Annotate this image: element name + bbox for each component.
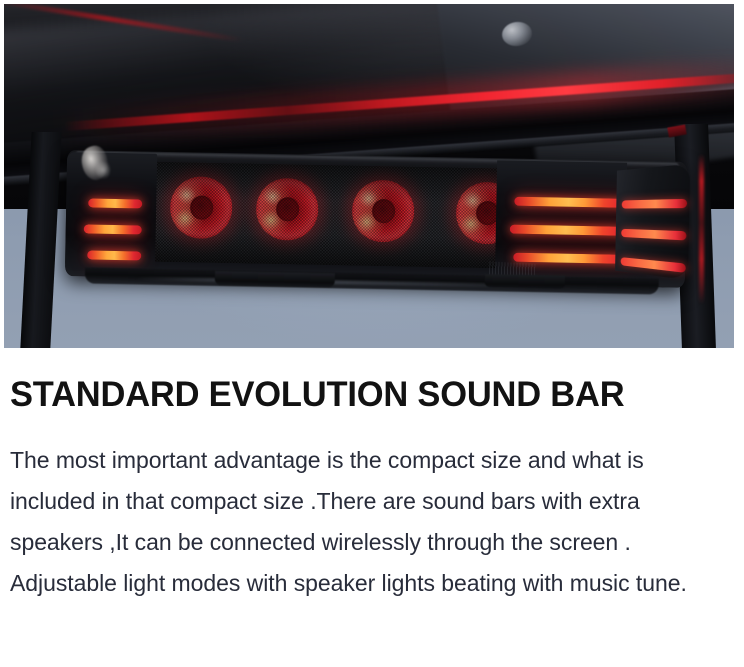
left-cap-led-bar [87,250,141,260]
product-text-block: STANDARD EVOLUTION SOUND BAR The most im… [0,348,744,604]
product-description: The most important advantage is the comp… [10,440,734,604]
right-cap-side-face [615,164,690,280]
soundbar-mount-bracket [485,274,565,289]
right-cap-led-bar [513,253,631,264]
right-cap-side-led-bar [621,257,686,273]
left-cap-led-bar [84,224,142,234]
soundbar-photo-scene [4,4,734,348]
right-cap-side-led-bar [621,229,686,241]
left-cap-led-bar [88,198,142,208]
soundbar-mount-bracket [215,271,335,287]
page-title: STANDARD EVOLUTION SOUND BAR [10,374,723,416]
right-cap-led-bar [510,225,632,236]
right-cap-side-led-bar [622,199,687,209]
right-cap-led-bar [514,197,632,208]
product-detail-page: STANDARD EVOLUTION SOUND BAR The most im… [0,0,744,667]
right-cap-front-face [495,160,627,278]
soundbar-left-end-cap [65,152,157,272]
photo-light-wisp-secondary [96,160,110,180]
desk-leg-led [699,154,704,304]
product-image[interactable] [4,4,734,348]
soundbar-unit [65,150,687,288]
